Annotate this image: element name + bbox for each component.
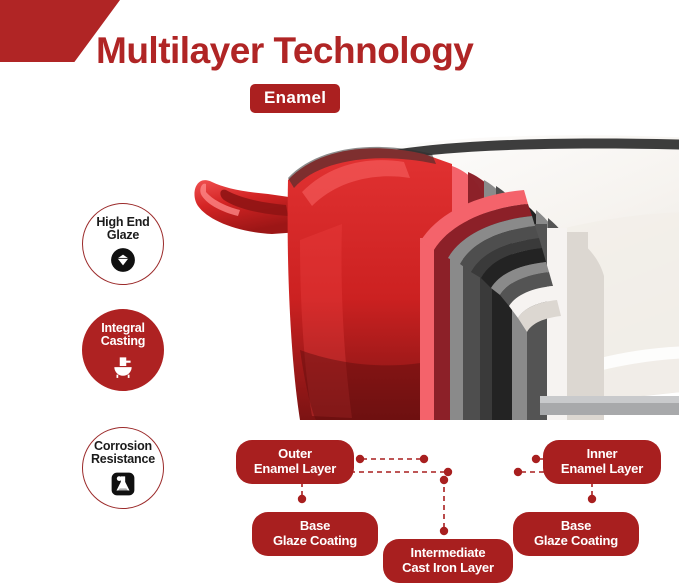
callout-intermediate-cast-iron-layer[interactable]: Intermediate Cast Iron Layer <box>383 539 513 583</box>
infographic-canvas: Multilayer Technology Enamel <box>0 0 679 584</box>
callout-base-glaze-coating-right[interactable]: Base Glaze Coating <box>513 512 639 556</box>
feature-badge-label: High End Glaze <box>83 216 163 243</box>
casting-ladle-icon <box>110 353 136 379</box>
diamond-gem-icon <box>110 247 136 273</box>
page-title: Multilayer Technology <box>96 32 576 71</box>
subtitle-badge: Enamel <box>250 84 340 113</box>
feature-badge-high-end-glaze[interactable]: High End Glaze <box>82 203 164 285</box>
table-edge <box>540 402 679 415</box>
feature-badge-label: Integral Casting <box>83 322 163 349</box>
callout-inner-enamel-layer[interactable]: Inner Enamel Layer <box>543 440 661 484</box>
callout-outer-enamel-layer[interactable]: Outer Enamel Layer <box>236 440 354 484</box>
feature-badge-integral-casting[interactable]: Integral Casting <box>82 309 164 391</box>
feature-badge-label: Corrosion Resistance <box>83 440 163 467</box>
feature-badge-corrosion-resistance[interactable]: Corrosion Resistance <box>82 427 164 509</box>
callout-base-glaze-coating-left[interactable]: Base Glaze Coating <box>252 512 378 556</box>
flask-icon <box>110 471 136 497</box>
